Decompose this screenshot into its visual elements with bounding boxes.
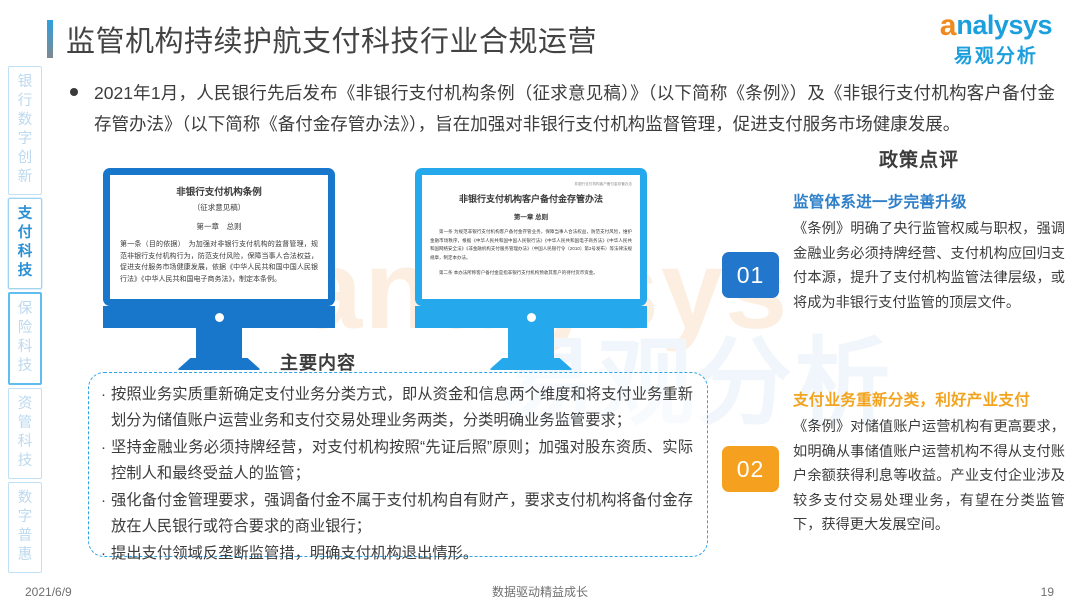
sidebar-label-char: 技 — [18, 262, 33, 281]
sidebar-item-banking-label: 银行数字创新 — [18, 73, 33, 187]
monitor-illustration-regulation: 非银行支付机构条例 （征求意见稿） 第一章 总则 第一条（目的依据） 为加强对非… — [103, 168, 335, 370]
sidebar-label-char: 管 — [18, 414, 33, 433]
title-text: 监管机构持续护航支付科技行业合规运营 — [66, 18, 597, 60]
sidebar-label-char: 数 — [18, 489, 33, 508]
list-item-text: 按照业务实质重新确定支付业务分类方式，即从资金和信息两个维度和将支付业务重新划分… — [111, 382, 693, 434]
sidebar-label-char: 惠 — [18, 546, 33, 565]
list-item: · 强化备付金管理要求，强调备付金不属于支付机构自有财产，要求支付机构将备付金存… — [101, 488, 693, 540]
monitor-1-frame: 非银行支付机构条例 （征求意见稿） 第一章 总则 第一条（目的依据） 为加强对非… — [103, 168, 335, 306]
footer-page-number: 19 — [1041, 585, 1054, 599]
intro-text: 2021年1月，人民银行先后发布《非银行支付机构条例（征求意见稿）》（以下简称《… — [94, 78, 1055, 140]
logo-cn-text: 易观分析 — [940, 41, 1052, 68]
policy-block-02: 02 支付业务重新分类，利好产业支付 《条例》对储值账户运营机构有更高要求，如明… — [715, 388, 1065, 548]
page-title: 监管机构持续护航支付科技行业合规运营 — [47, 18, 597, 60]
doc2-body: 第一条 为规范非银行支付机构客户备付金存管业务，保障当事人合法权益，防范支付风险… — [430, 228, 632, 278]
sidebar-label-char: 创 — [18, 149, 33, 168]
monitor-illustration-custody: 非银行支付机构客户备付金存管办法 非银行支付机构客户备付金存管办法 第一章 总则… — [415, 168, 647, 370]
policy-badge-01: 01 — [722, 252, 779, 298]
document-custody: 非银行支付机构客户备付金存管办法 非银行支付机构客户备付金存管办法 第一章 总则… — [422, 175, 640, 292]
sidebar-label-char: 行 — [18, 92, 33, 111]
footer-slogan: 数据驱动精益成长 — [0, 583, 1080, 600]
sidebar-item-inclusive[interactable]: 数字普惠 — [8, 482, 42, 573]
monitor-1-neck — [196, 328, 242, 358]
monitor-1-foot — [177, 358, 261, 370]
list-bullet-icon: · — [101, 382, 111, 434]
title-accent-bar — [47, 20, 53, 58]
monitor-2-chin — [415, 306, 647, 328]
sidebar-label-char: 技 — [18, 452, 33, 471]
logo-a-mark: a — [940, 11, 957, 41]
list-item-text: 强化备付金管理要求，强调备付金不属于支付机构自有财产，要求支付机构将备付金存放在… — [111, 488, 693, 540]
monitor-2-frame: 非银行支付机构客户备付金存管办法 非银行支付机构客户备付金存管办法 第一章 总则… — [415, 168, 647, 306]
sidebar-item-banking[interactable]: 银行数字创新 — [8, 66, 42, 195]
list-bullet-icon: · — [101, 435, 111, 487]
sidebar-item-payment[interactable]: 支付科技 — [8, 198, 42, 289]
list-item: · 按照业务实质重新确定支付业务分类方式，即从资金和信息两个维度和将支付业务重新… — [101, 382, 693, 434]
sidebar-label-char: 数 — [18, 111, 33, 130]
doc1-chapter: 第一章 总则 — [120, 221, 318, 232]
monitor-1-screen: 非银行支付机构条例 （征求意见稿） 第一章 总则 第一条（目的依据） 为加强对非… — [110, 175, 328, 299]
monitor-1-chin — [103, 306, 335, 328]
sidebar-label-char: 科 — [18, 433, 33, 452]
policy-badge-02: 02 — [722, 446, 779, 492]
brand-logo: a nalysys 易观分析 — [940, 10, 1052, 68]
list-item: · 提出支付领域反垄断监管措，明确支付机构退出情形。 — [101, 541, 693, 567]
policy-block-01-text: 《条例》明确了央行监管权威与职权，强调金融业务必须持牌经营、支付机构应回归支付本… — [793, 217, 1065, 315]
sidebar-label-char: 普 — [18, 527, 33, 546]
category-sidebar[interactable]: 银行数字创新 支付科技 保险科技 资管科技 数字普惠 — [8, 66, 42, 576]
sidebar-label-char: 技 — [18, 357, 33, 376]
policy-block-01-heading: 监管体系进一步完善升级 — [793, 190, 1065, 212]
sidebar-label-char: 银 — [18, 73, 33, 92]
policy-block-02-text: 《条例》对储值账户运营机构有更高要求，如明确从事储值账户运营机构不得从支付账户余… — [793, 415, 1065, 538]
sidebar-label-char: 新 — [18, 168, 33, 187]
logo-wordmark: nalysys — [956, 12, 1052, 39]
sidebar-item-insurance[interactable]: 保险科技 — [8, 292, 42, 385]
main-content-label: 主要内容 — [280, 349, 356, 375]
sidebar-label-char: 资 — [18, 395, 33, 414]
sidebar-label-char: 字 — [18, 130, 33, 149]
doc2-para-2: 第二条 本办法所称客户备付金是指非银行支付机构预收其客户的待付货币资金。 — [430, 269, 632, 278]
bullet-dot-icon — [70, 88, 78, 96]
list-item-text: 提出支付领域反垄断监管措，明确支付机构退出情形。 — [111, 541, 478, 567]
doc2-title: 非银行支付机构客户备付金存管办法 — [430, 192, 632, 205]
monitor-2-screen: 非银行支付机构客户备付金存管办法 非银行支付机构客户备付金存管办法 第一章 总则… — [422, 175, 640, 299]
list-bullet-icon: · — [101, 541, 111, 567]
monitor-1-power-dot-icon — [215, 313, 224, 322]
document-regulation: 非银行支付机构条例 （征求意见稿） 第一章 总则 第一条（目的依据） 为加强对非… — [110, 175, 328, 294]
sidebar-label-char: 支 — [18, 205, 33, 224]
sidebar-label-char: 付 — [18, 224, 33, 243]
sidebar-item-payment-label: 支付科技 — [18, 205, 33, 281]
footer: 2021/6/9 数据驱动精益成长 19 — [0, 583, 1080, 600]
list-item: · 坚持金融业务必须持牌经营，对支付机构按照“先证后照”原则；加强对股东资质、实… — [101, 435, 693, 487]
doc1-title: 非银行支付机构条例 — [120, 184, 318, 198]
sidebar-label-char: 保 — [18, 300, 33, 319]
slide-root: analysys 易观分析 监管机构持续护航支付科技行业合规运营 a nalys… — [0, 0, 1080, 608]
policy-block-02-heading: 支付业务重新分类，利好产业支付 — [793, 388, 1065, 410]
policy-block-02-body: 支付业务重新分类，利好产业支付 《条例》对储值账户运营机构有更高要求，如明确从事… — [793, 388, 1065, 538]
list-item-text: 坚持金融业务必须持牌经营，对支付机构按照“先证后照”原则；加强对股东资质、实际控… — [111, 435, 693, 487]
footer-date: 2021/6/9 — [25, 585, 72, 599]
sidebar-label-char: 科 — [18, 338, 33, 357]
sidebar-item-assetmgmt[interactable]: 资管科技 — [8, 388, 42, 479]
monitor-2-power-dot-icon — [527, 313, 536, 322]
doc1-subtitle: （征求意见稿） — [120, 202, 318, 213]
policy-panel-title: 政策点评 — [773, 145, 1065, 172]
sidebar-item-assetmgmt-label: 资管科技 — [18, 395, 33, 471]
doc2-para-1: 第一条 为规范非银行支付机构客户备付金存管业务，保障当事人合法权益，防范支付风险… — [430, 228, 632, 262]
policy-block-01: 01 监管体系进一步完善升级 《条例》明确了央行监管权威与职权，强调金融业务必须… — [715, 190, 1065, 358]
sidebar-label-char: 险 — [18, 319, 33, 338]
doc1-body: 第一条（目的依据） 为加强对非银行支付机构的监督管理，规范非银行支付机构行为，防… — [120, 239, 318, 285]
doc2-chapter: 第一章 总则 — [430, 211, 632, 221]
list-bullet-icon: · — [101, 488, 111, 540]
intro-paragraph: 2021年1月，人民银行先后发布《非银行支付机构条例（征求意见稿）》（以下简称《… — [70, 78, 1055, 140]
monitor-2-neck — [508, 328, 554, 358]
sidebar-label-char: 科 — [18, 243, 33, 262]
monitor-2-foot — [489, 358, 573, 370]
sidebar-item-inclusive-label: 数字普惠 — [18, 489, 33, 565]
policy-commentary-panel: 政策点评 01 监管体系进一步完善升级 《条例》明确了央行监管权威与职权，强调金… — [715, 145, 1065, 548]
main-content-box: · 按照业务实质重新确定支付业务分类方式，即从资金和信息两个维度和将支付业务重新… — [88, 372, 708, 557]
doc2-header-note: 非银行支付机构客户备付金存管办法 — [430, 182, 632, 187]
policy-block-01-body: 监管体系进一步完善升级 《条例》明确了央行监管权威与职权，强调金融业务必须持牌经… — [793, 190, 1065, 315]
logo-wordmark-row: a nalysys — [940, 10, 1052, 40]
sidebar-label-char: 字 — [18, 508, 33, 527]
sidebar-item-insurance-label: 保险科技 — [18, 300, 33, 376]
